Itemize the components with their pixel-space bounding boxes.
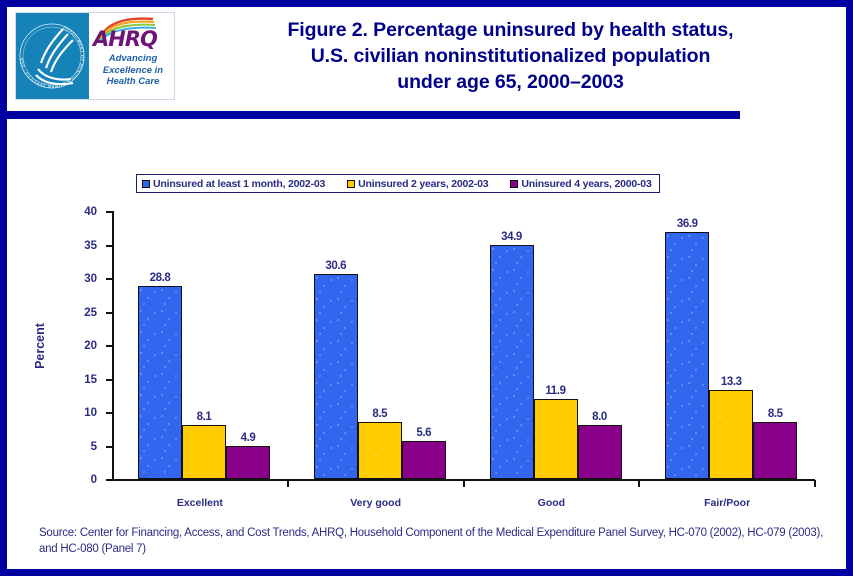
y-axis-tick-label: 10 <box>84 407 97 419</box>
figure-title: Figure 2. Percentage uninsured by health… <box>183 17 838 95</box>
legend-swatch-icon <box>142 180 150 188</box>
y-axis-tick-label: 15 <box>84 374 97 386</box>
y-axis-tick-label: 25 <box>84 307 97 319</box>
bar[interactable]: 8.5 <box>358 422 402 479</box>
bar[interactable]: 34.9 <box>490 245 534 479</box>
bar[interactable]: 28.8 <box>138 286 182 479</box>
bar-value-label: 8.5 <box>372 408 387 420</box>
bar-group: 28.88.14.9Excellent <box>112 211 288 479</box>
x-axis-tick <box>287 480 289 487</box>
bar[interactable]: 8.0 <box>578 425 622 479</box>
ahrq-tagline-line-2: Excellence in <box>93 65 173 77</box>
x-axis-category-label: Good <box>461 497 641 509</box>
ahrq-tagline-line-3: Health Care <box>93 76 173 88</box>
bar-value-label: 13.3 <box>721 376 742 388</box>
x-axis-category-label: Very good <box>286 497 466 509</box>
legend-item-1[interactable]: Uninsured at least 1 month, 2002-03 <box>142 178 325 190</box>
bar-value-label: 5.6 <box>416 427 431 439</box>
figure-inner: DEPARTMENT OF HEALTH & HUMAN SERVICES · … <box>7 7 846 569</box>
figure-frame: DEPARTMENT OF HEALTH & HUMAN SERVICES · … <box>0 0 853 576</box>
legend-label: Uninsured at least 1 month, 2002-03 <box>153 178 325 190</box>
x-axis-tick <box>814 480 816 487</box>
ahrq-logotype: AHRQ <box>93 29 157 50</box>
y-axis-tick-label: 5 <box>91 441 97 453</box>
bar-value-label: 28.8 <box>150 272 171 284</box>
legend-swatch-icon <box>510 180 518 188</box>
bar[interactable]: 8.1 <box>182 425 226 479</box>
x-axis-tick <box>463 480 465 487</box>
bar[interactable]: 13.3 <box>709 390 753 479</box>
y-axis-tick-label: 35 <box>84 240 97 252</box>
bar-value-label: 8.5 <box>768 408 783 420</box>
bar-value-label: 4.9 <box>241 432 256 444</box>
legend-item-2[interactable]: Uninsured 2 years, 2002-03 <box>347 178 488 190</box>
ahrq-wordmark-block: AHRQ Advancing Excellence in Health Care <box>89 13 174 99</box>
bar-value-label: 8.1 <box>197 411 212 423</box>
bar[interactable]: 4.9 <box>226 446 270 479</box>
bar-chart: Uninsured at least 1 month, 2002-03Unins… <box>7 119 846 519</box>
legend-label: Uninsured 4 years, 2000-03 <box>521 178 651 190</box>
bar-group: 30.68.55.6Very good <box>288 211 464 479</box>
bar-value-label: 34.9 <box>501 231 522 243</box>
legend-swatch-icon <box>347 180 355 188</box>
bar[interactable]: 36.9 <box>665 232 709 479</box>
bar-group: 36.913.38.5Fair/Poor <box>639 211 815 479</box>
chart-legend: Uninsured at least 1 month, 2002-03Unins… <box>136 174 660 193</box>
figure-title-line-1: Figure 2. Percentage uninsured by health… <box>183 17 838 43</box>
bar-value-label: 11.9 <box>545 385 565 397</box>
bar[interactable]: 8.5 <box>753 422 797 479</box>
y-axis-tick: 0 <box>106 479 112 481</box>
hhs-seal-icon: DEPARTMENT OF HEALTH & HUMAN SERVICES · … <box>16 13 89 99</box>
bar-value-label: 8.0 <box>592 411 607 423</box>
header-divider-rule <box>7 111 740 119</box>
y-axis-tick-label: 0 <box>91 474 97 486</box>
y-axis-tick-label: 20 <box>84 340 97 352</box>
bar-group: 34.911.98.0Good <box>464 211 640 479</box>
bar[interactable]: 5.6 <box>402 441 446 479</box>
x-axis-category-label: Fair/Poor <box>637 497 817 509</box>
bar[interactable]: 11.9 <box>534 399 578 479</box>
hhs-seal-ring: DEPARTMENT OF HEALTH & HUMAN SERVICES · … <box>18 17 86 95</box>
x-axis-category-label: Excellent <box>110 497 290 509</box>
ahrq-tagline: Advancing Excellence in Health Care <box>93 53 173 88</box>
bar[interactable]: 30.6 <box>314 274 358 479</box>
y-axis-title: Percent <box>33 323 47 369</box>
ahrq-tagline-line-1: Advancing <box>93 53 173 65</box>
x-axis-tick <box>638 480 640 487</box>
plot-area: Percent 0510152025303540 28.88.14.9Excel… <box>112 211 815 481</box>
legend-label: Uninsured 2 years, 2002-03 <box>358 178 488 190</box>
figure-title-line-2: U.S. civilian noninstitutionalized popul… <box>183 43 838 69</box>
legend-item-3[interactable]: Uninsured 4 years, 2000-03 <box>510 178 651 190</box>
y-axis-tick-label: 40 <box>84 206 97 218</box>
svg-text:DEPARTMENT OF HEALTH & HUMAN S: DEPARTMENT OF HEALTH & HUMAN SERVICES · … <box>19 25 85 89</box>
ahrq-logo: DEPARTMENT OF HEALTH & HUMAN SERVICES · … <box>15 12 175 100</box>
bar-value-label: 30.6 <box>325 260 346 272</box>
source-note: Source: Center for Financing, Access, an… <box>39 525 829 557</box>
bar-value-label: 36.9 <box>677 218 698 230</box>
y-axis-tick-label: 30 <box>84 273 97 285</box>
figure-title-line-3: under age 65, 2000–2003 <box>183 69 838 95</box>
